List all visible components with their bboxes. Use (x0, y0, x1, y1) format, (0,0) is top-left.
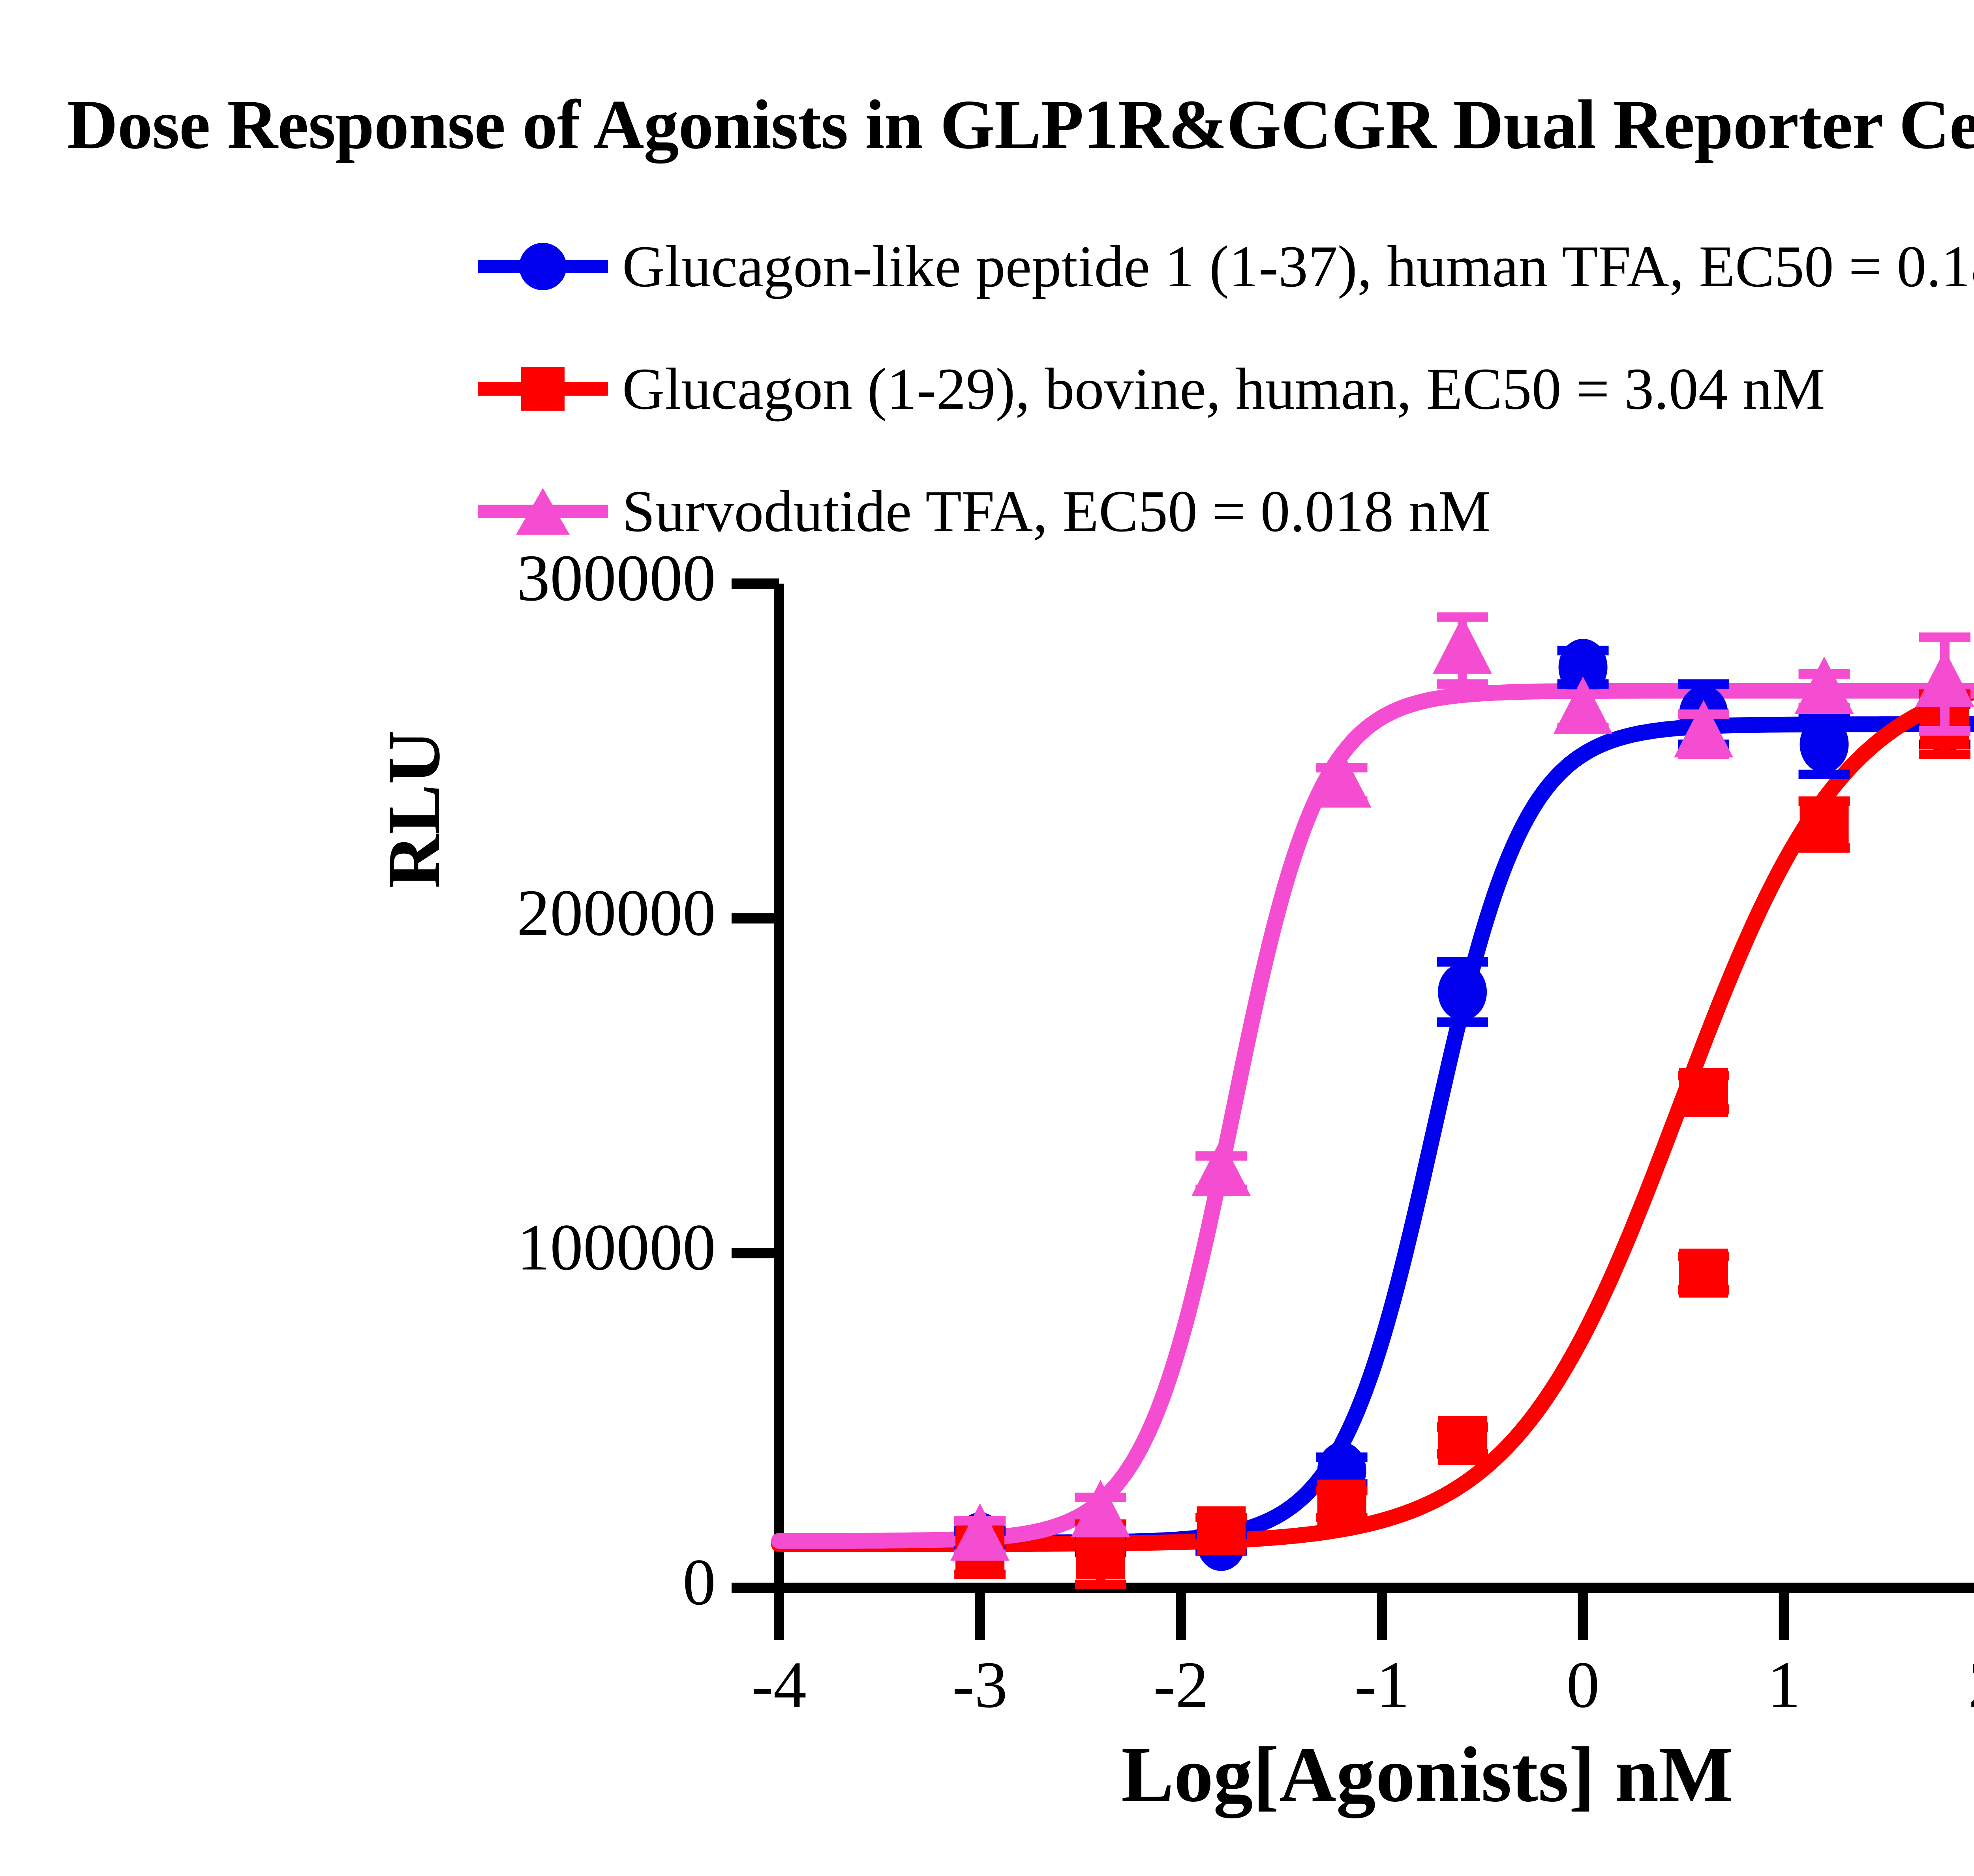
x-tick-label: -4 (720, 1647, 838, 1723)
y-axis-spine (774, 584, 784, 1593)
x-tick-label: 2 (1926, 1647, 1974, 1723)
y-axis-label: RLU (371, 730, 457, 888)
y-tick-label: 200000 (517, 875, 716, 951)
data-point-square[interactable] (1197, 1506, 1246, 1555)
data-point-triangle[interactable] (1192, 1138, 1251, 1196)
error-bar-cap-bottom (1075, 1580, 1126, 1589)
y-tick-mark (732, 913, 779, 924)
error-bar-cap-bottom (1919, 726, 1970, 736)
data-point-circle[interactable] (1438, 963, 1487, 1020)
plot-area: 0100000200000300000-4-3-2-10123 (0, 0, 1974, 1874)
fit-curve-2 (779, 691, 1974, 1541)
data-point-square[interactable] (1679, 1068, 1728, 1117)
plot-canvas (0, 0, 1974, 1874)
x-axis-label: Log[Agonists] nM (1121, 1730, 1733, 1820)
y-tick-label: 100000 (517, 1209, 716, 1286)
x-tick-mark (1176, 1593, 1186, 1640)
x-tick-label: 0 (1524, 1647, 1642, 1723)
y-tick-mark (732, 578, 779, 589)
data-point-square[interactable] (1438, 1416, 1487, 1465)
data-point-square[interactable] (1679, 1249, 1728, 1298)
x-tick-label: -1 (1323, 1647, 1441, 1723)
x-tick-mark (1779, 1593, 1789, 1640)
y-tick-label: 300000 (517, 540, 716, 616)
x-tick-mark (1578, 1593, 1588, 1640)
data-point-circle[interactable] (1800, 716, 1849, 773)
y-tick-mark (732, 1248, 779, 1258)
data-point-triangle[interactable] (1915, 650, 1974, 708)
x-tick-label: 1 (1725, 1647, 1843, 1723)
x-axis-spine (774, 1583, 1974, 1593)
y-tick-mark (732, 1583, 779, 1593)
chart-figure: Dose Response of Agonists in GLP1R&GCGR … (0, 0, 1974, 1874)
x-tick-label: -3 (921, 1647, 1039, 1723)
fit-curve-1 (779, 669, 1974, 1544)
x-tick-mark (975, 1593, 985, 1640)
y-tick-label: 0 (683, 1544, 716, 1621)
x-tick-label: -2 (1122, 1647, 1240, 1723)
x-tick-mark (774, 1593, 784, 1640)
x-tick-mark (1377, 1593, 1387, 1640)
data-point-square[interactable] (1800, 800, 1849, 849)
error-bar-cap-top (1919, 633, 1970, 642)
data-point-square[interactable] (1317, 1480, 1366, 1529)
data-point-triangle[interactable] (1433, 616, 1492, 674)
error-bar-cap-bottom (1437, 679, 1488, 689)
error-bar-cap-bottom (1919, 749, 1970, 759)
